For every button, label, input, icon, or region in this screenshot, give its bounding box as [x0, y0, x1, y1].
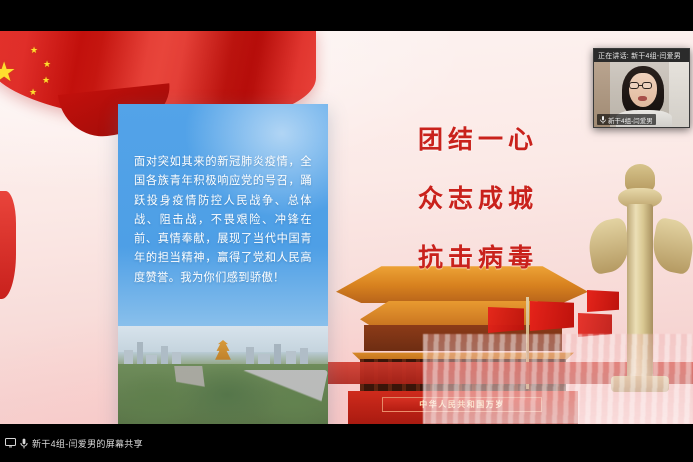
- flag-star-2: ★: [43, 60, 51, 69]
- flag-star-4: ★: [29, 88, 37, 97]
- slogan-line-3: 抗击病毒: [418, 245, 593, 270]
- status-bar: 新干4组-闫爱男的屏幕共享: [0, 424, 693, 462]
- cityscape-photo-icon: [118, 326, 328, 424]
- slogan-line-1: 团结一心: [418, 127, 593, 152]
- screen-share-icon[interactable]: [5, 438, 16, 448]
- quote-card: 面对突如其来的新冠肺炎疫情，全国各族青年积极响应党的号召，踊跃投身疫情防控人民战…: [118, 104, 328, 424]
- slogan-line-2: 众志成城: [418, 186, 593, 211]
- flag-star-large: ★: [0, 59, 16, 86]
- screen-share-viewer: ★ ★ ★ ★ ★ 中华人民共和国万岁: [0, 0, 693, 462]
- slogan-list: 团结一心 众志成城 抗击病毒: [418, 127, 593, 304]
- shared-slide: ★ ★ ★ ★ ★ 中华人民共和国万岁: [0, 31, 693, 424]
- video-name-label: 新干4组-闫爱男: [608, 115, 653, 125]
- speaker-video-tile[interactable]: 正在讲话: 新干4组-闫爱男 新干4组-闫爱男: [593, 48, 690, 128]
- red-ribbon-decoration: [0, 191, 16, 299]
- flag-star-1: ★: [30, 46, 38, 55]
- microphone-icon[interactable]: [20, 438, 28, 449]
- speaking-indicator-bar: 正在讲话: 新干4组-闫爱男: [594, 49, 689, 62]
- microphone-icon: [600, 116, 606, 124]
- video-feed[interactable]: 新干4组-闫爱男: [594, 62, 689, 128]
- status-bar-label: 新干4组-闫爱男的屏幕共享: [32, 437, 143, 450]
- flag-star-3: ★: [42, 76, 50, 85]
- quote-text: 面对突如其来的新冠肺炎疫情，全国各族青年积极响应党的号召，踊跃投身疫情防控人民战…: [134, 152, 312, 287]
- fountain-spray: [423, 334, 693, 424]
- video-name-chip: 新干4组-闫爱男: [597, 114, 656, 125]
- speaking-label: 正在讲话: 新干4组-闫爱男: [598, 51, 681, 61]
